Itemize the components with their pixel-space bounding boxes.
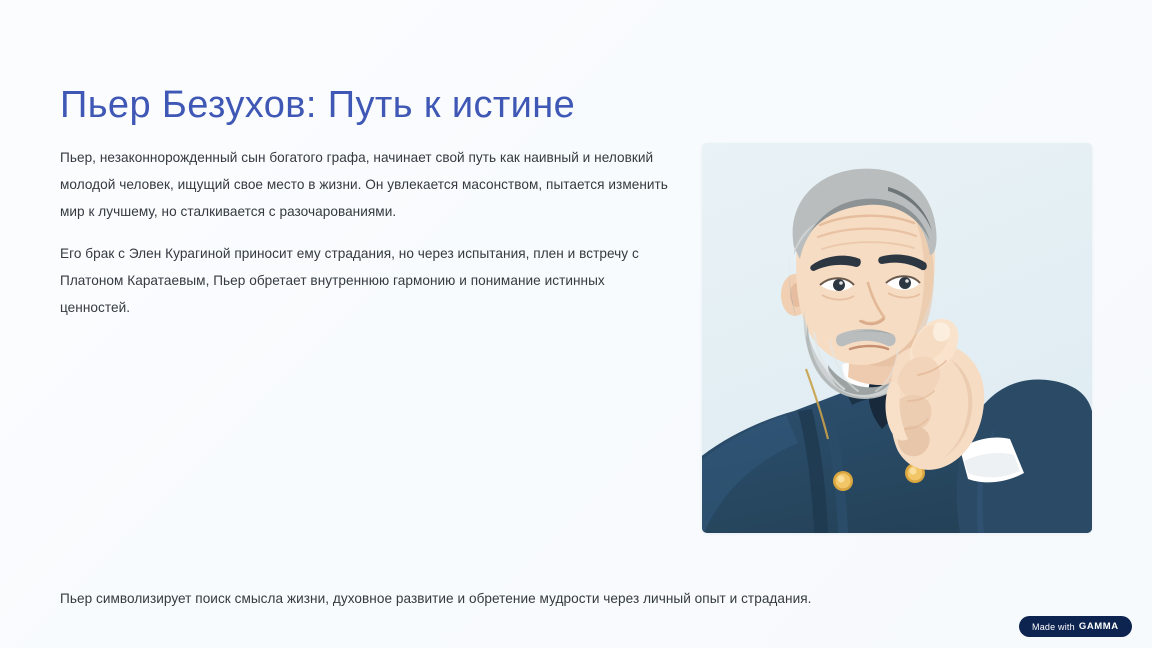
portrait-illustration-icon (702, 143, 1092, 533)
badge-brand-label: GAMMA (1079, 621, 1119, 632)
badge-made-with-label: Made with (1032, 622, 1075, 632)
body-paragraph-2: Его брак с Элен Курагиной приносит ему с… (60, 240, 674, 321)
body-paragraph-1: Пьер, незаконнорожденный сын богатого гр… (60, 144, 674, 225)
made-with-gamma-badge[interactable]: Made with GAMMA (1019, 616, 1132, 637)
portrait-image (702, 143, 1092, 533)
slide-caption: Пьер символизирует поиск смысла жизни, д… (60, 588, 1090, 610)
body-text-column: Пьер, незаконнорожденный сын богатого гр… (60, 144, 674, 321)
page-title: Пьер Безухов: Путь к истине (60, 82, 575, 128)
slide-root: Пьер Безухов: Путь к истине Пьер, незако… (0, 0, 1152, 648)
